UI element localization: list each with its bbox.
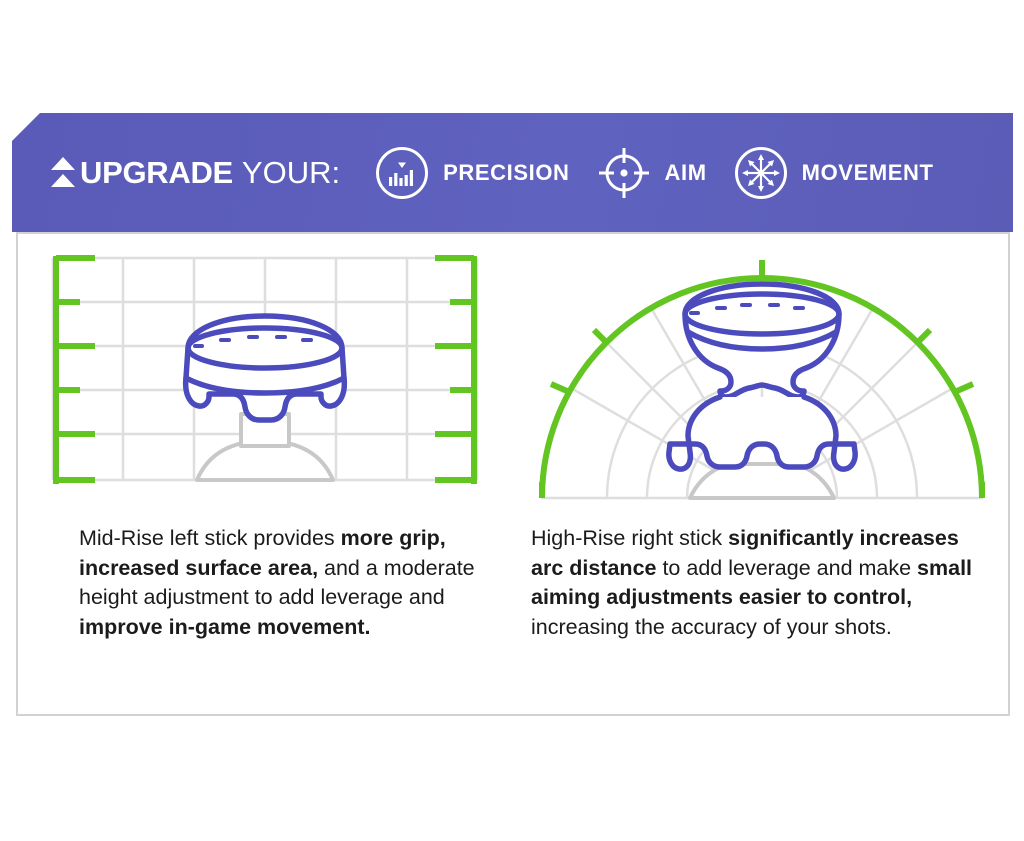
mid-rise-figure [16,254,513,532]
double-up-arrow-icon [50,156,76,190]
panels-container: Mid-Rise left stick provides more grip, … [16,232,1010,716]
panel-high-rise: High-Rise right stick significantly incr… [513,232,1010,716]
high-rise-caption: High-Rise right stick significantly incr… [531,524,986,642]
mid-rise-thumbstick [185,316,344,420]
cartesian-grid-diagram [45,254,485,486]
caption-part: to add leverage and make [656,556,917,580]
upgrade-banner: UPGRADE YOUR: PRECISION [12,113,1013,232]
caption-part: increasing the accuracy of your shots. [531,615,892,639]
panel-mid-rise: Mid-Rise left stick provides more grip, … [16,232,513,716]
feature-movement-label: MOVEMENT [802,162,934,184]
crosshair-target-icon [596,145,652,201]
feature-precision-label: PRECISION [443,162,569,184]
mid-rise-caption: Mid-Rise left stick provides more grip, … [79,524,479,642]
feature-aim-label: AIM [665,162,707,184]
feature-list: PRECISION AIM [374,145,1013,201]
feature-precision: PRECISION [374,145,569,201]
feature-aim: AIM [596,145,707,201]
your-label: YOUR: [242,157,340,188]
precision-bars-circle-icon [374,145,430,201]
feature-movement: MOVEMENT [733,145,934,201]
banner-inner: UPGRADE YOUR: PRECISION [50,145,1013,201]
movement-arrows-circle-icon [733,145,789,201]
caption-part: Mid-Rise left stick provides [79,526,341,550]
caption-part-bold: improve in-game movement. [79,615,371,639]
infographic-root: UPGRADE YOUR: PRECISION [0,0,1024,841]
upgrade-label: UPGRADE [80,157,233,188]
caption-part: High-Rise right stick [531,526,728,550]
polar-grid-diagram [527,254,997,504]
upgrade-heading-group: UPGRADE YOUR: [50,156,340,190]
high-rise-figure [513,254,1010,532]
controller-base [197,414,333,480]
